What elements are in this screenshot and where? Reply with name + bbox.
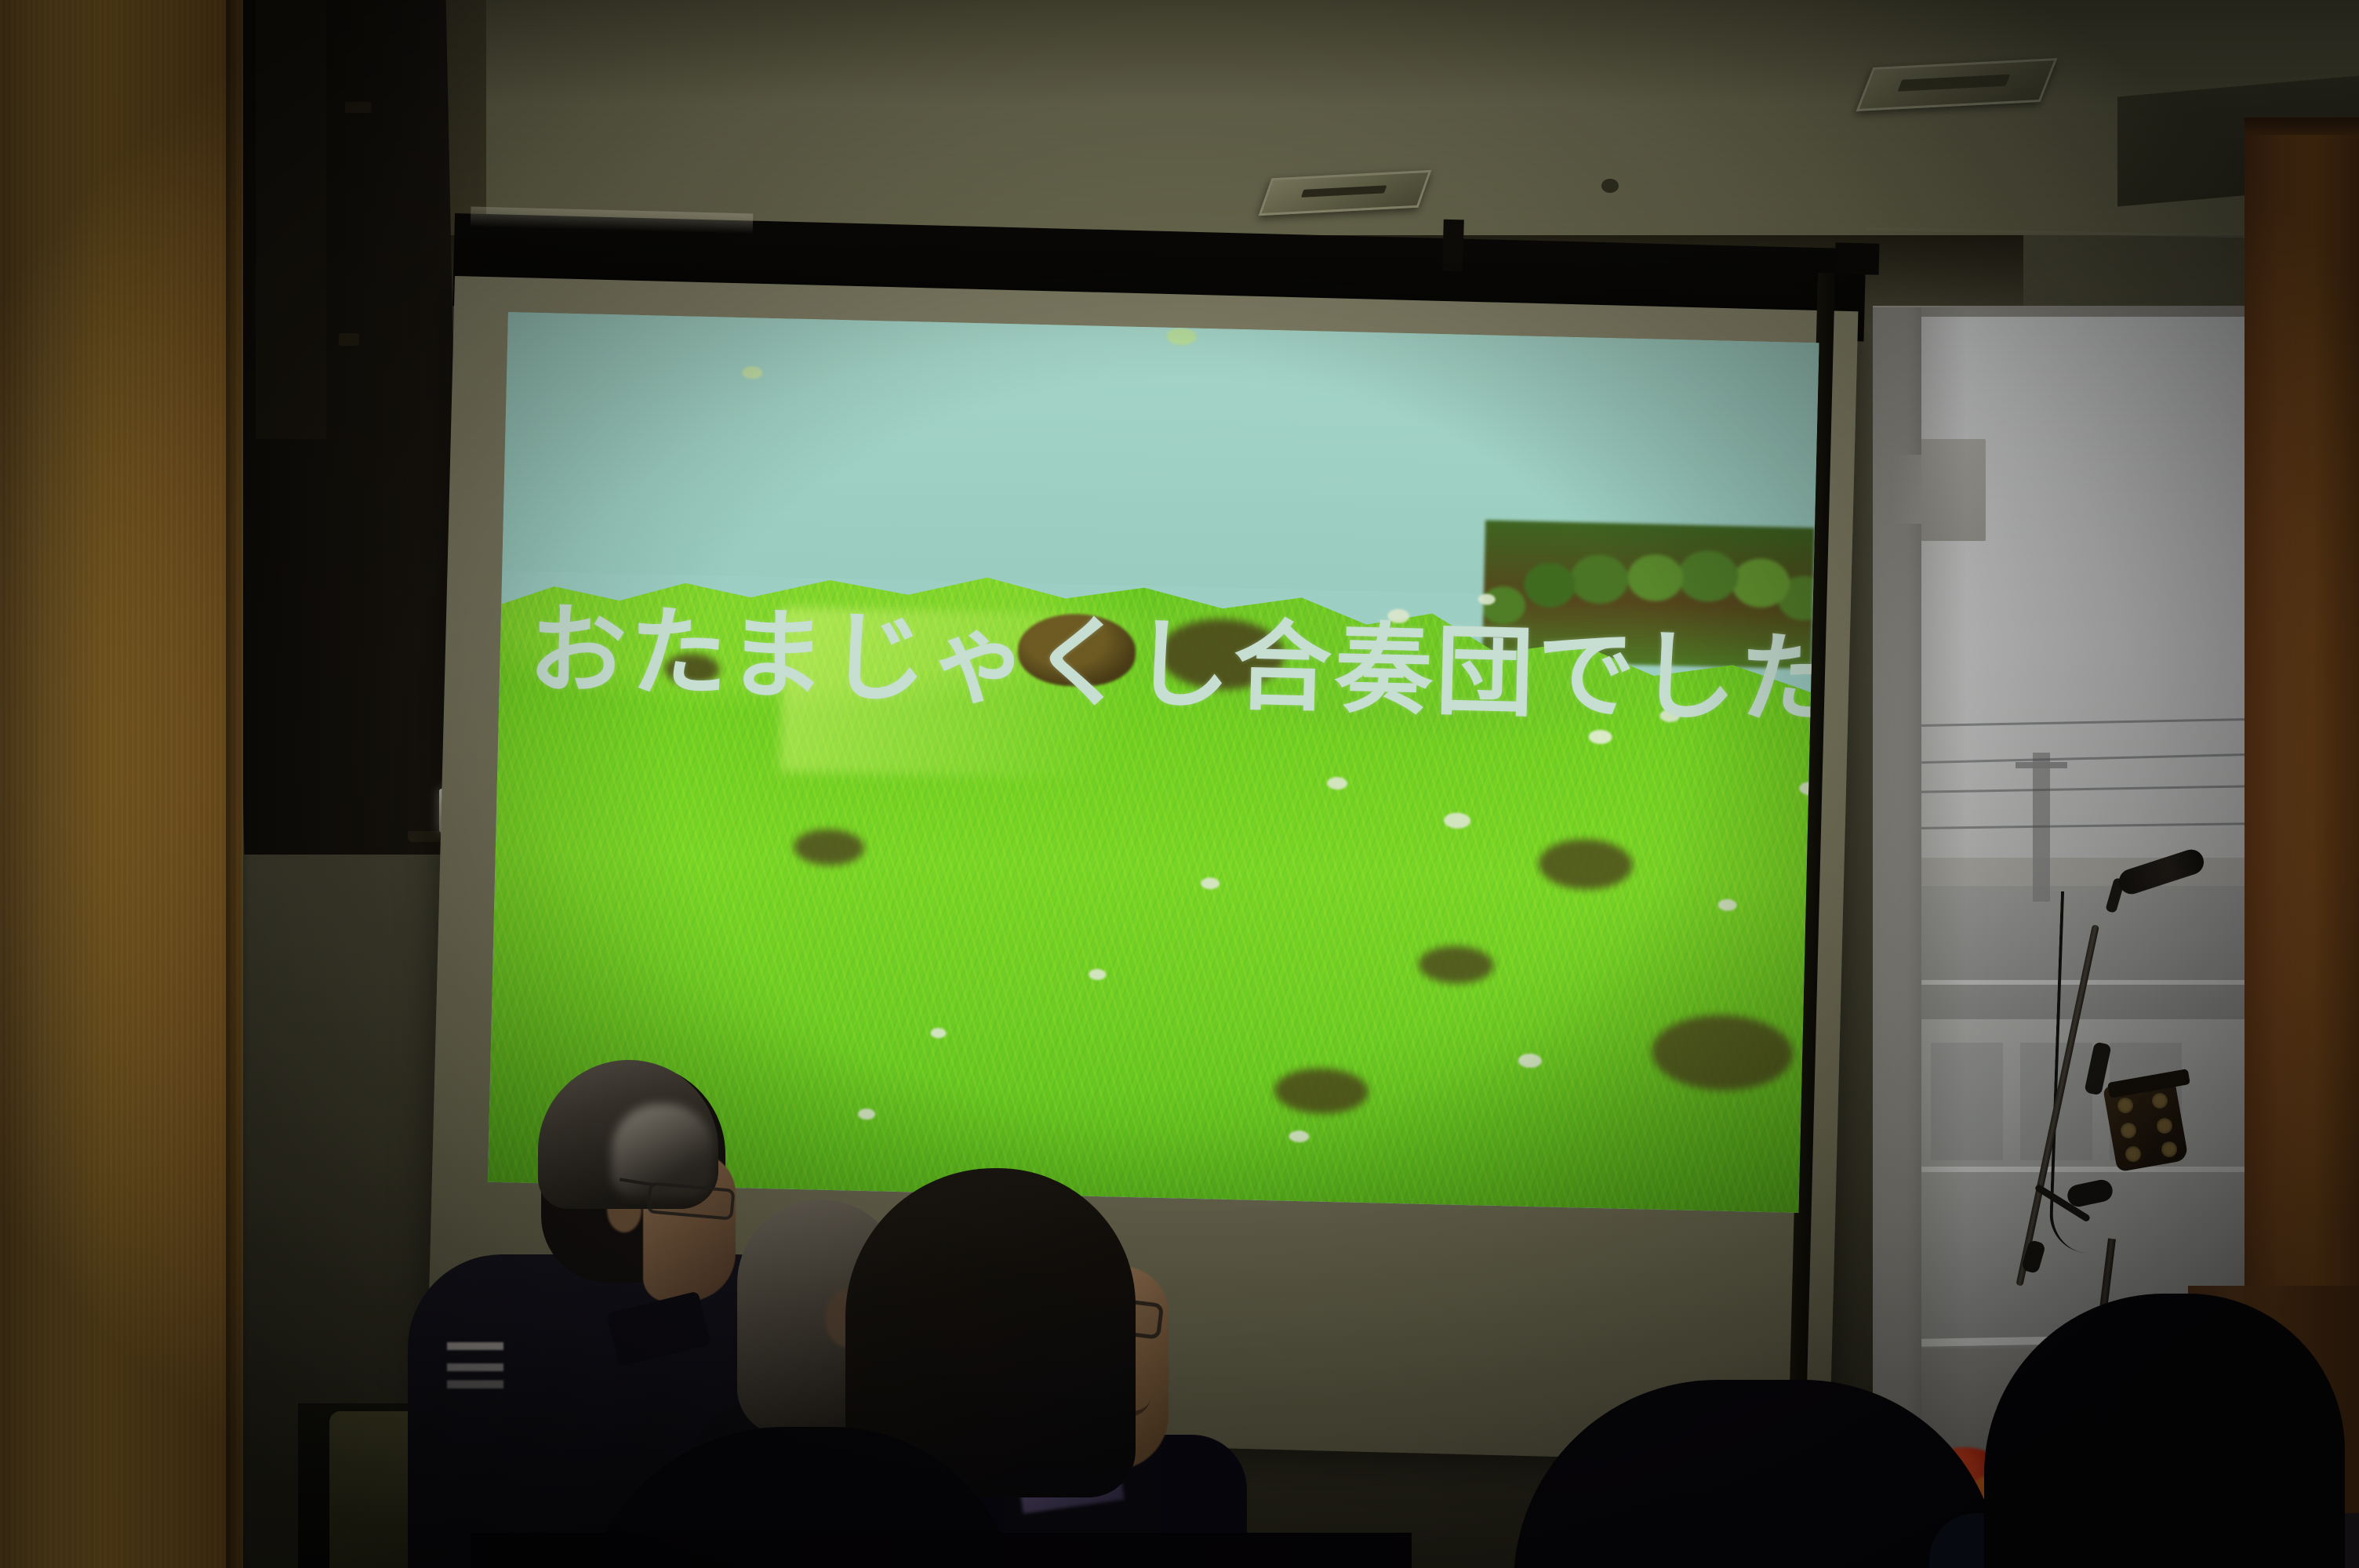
left-pillar-shadow — [226, 0, 249, 1568]
ceiling-sensor-icon — [1601, 179, 1619, 193]
slide-flower — [1089, 969, 1106, 981]
slide-flower — [858, 1109, 875, 1120]
slide-flower — [742, 366, 762, 379]
audience-member-1-jacket-logo — [447, 1342, 503, 1392]
slide-flower — [1289, 1131, 1309, 1143]
slide-flower — [1166, 328, 1197, 346]
projected-slide: おたまじゃくし合奏団でした！ — [488, 312, 1819, 1213]
wall-panel-marking — [345, 102, 372, 113]
guitar-tuning-peg[interactable] — [2121, 1123, 2136, 1138]
guitar-tuning-peg[interactable] — [2157, 1118, 2172, 1134]
guitar-tuning-peg[interactable] — [2152, 1093, 2168, 1109]
right-pillar-cap — [2245, 118, 2359, 135]
foreground-row-shadow — [471, 1533, 1412, 1568]
screen-ceiling-mount — [1442, 220, 1464, 272]
slide-flower — [1327, 777, 1347, 790]
left-wood-pillar — [0, 0, 243, 1568]
wall-panel-marking-2 — [339, 333, 359, 346]
guitar-tuning-peg[interactable] — [2161, 1142, 2177, 1157]
window-shadow — [1873, 307, 1967, 1530]
roller-end-cap — [1835, 242, 1880, 274]
slide-flower — [1518, 1054, 1542, 1069]
window-sky — [1920, 317, 2252, 858]
guitar-tuning-peg[interactable] — [2125, 1146, 2141, 1162]
slide-flower — [1201, 877, 1219, 890]
slide-flower — [1478, 593, 1496, 605]
wall-panel-inset — [256, 0, 326, 439]
guitar-tuning-peg[interactable] — [2117, 1098, 2133, 1113]
slide-title-text: おたまじゃくし合奏団でした！ — [527, 601, 1799, 729]
slide-flower — [930, 1028, 946, 1038]
photo-scene: おたまじゃくし合奏団でした！ — [0, 0, 2359, 1568]
